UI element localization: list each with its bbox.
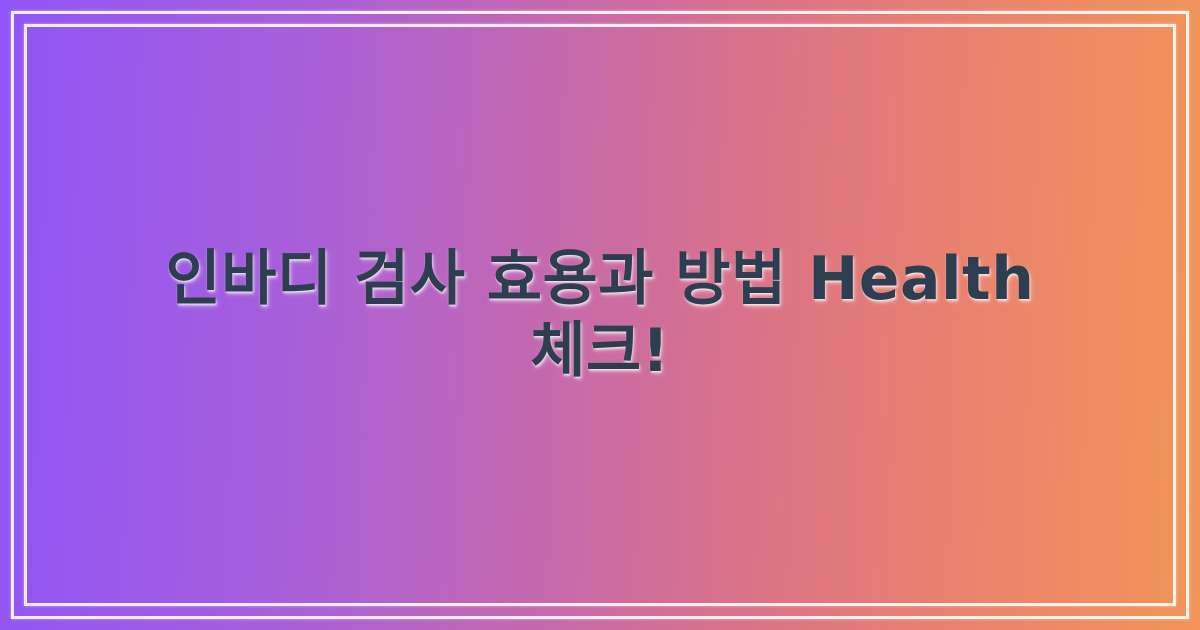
og-card: 인바디 검사 효용과 방법 Health 체크! — [0, 0, 1200, 630]
title-container: 인바디 검사 효용과 방법 Health 체크! — [0, 0, 1200, 630]
page-title: 인바디 검사 효용과 방법 Health 체크! — [150, 243, 1050, 387]
